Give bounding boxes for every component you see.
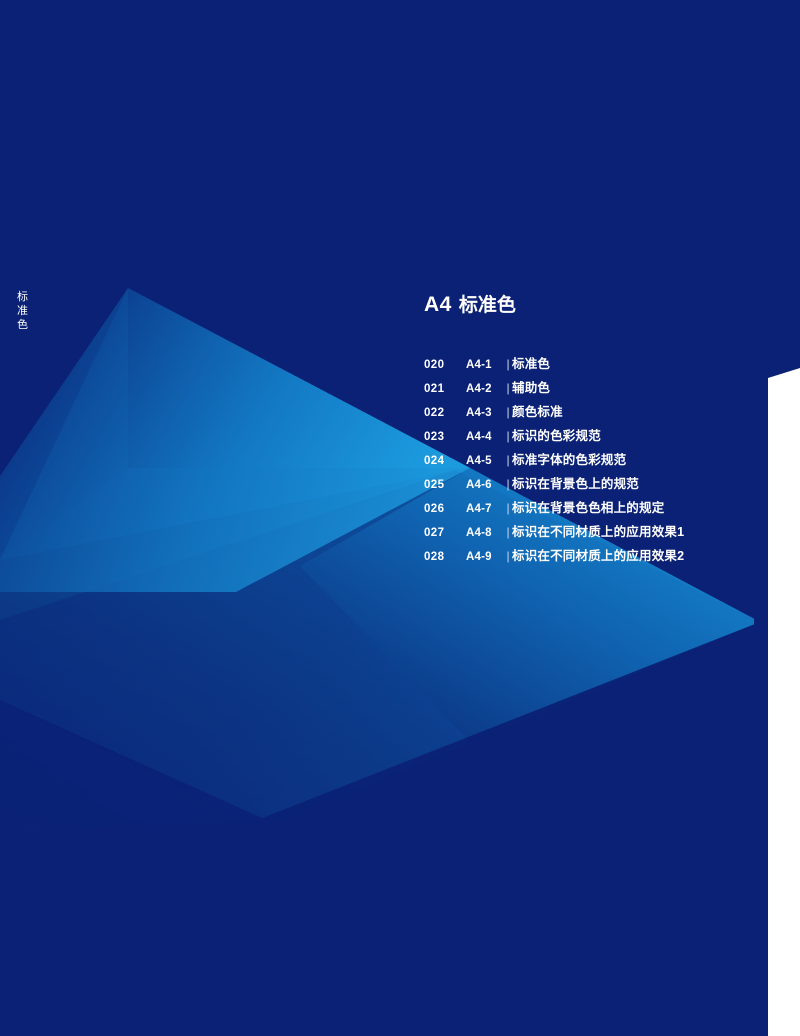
toc-entry-label: 标识在不同材质上的应用效果1 xyxy=(512,521,754,540)
toc-separator: | xyxy=(504,477,512,491)
toc-section-code: A4-5 xyxy=(466,455,504,467)
toc-item-4[interactable]: 024 A4-5 | 标准字体的色彩规范 xyxy=(424,449,754,473)
toc-item-7[interactable]: 027 A4-8 | 标识在不同材质上的应用效果1 xyxy=(424,521,754,545)
toc-item-3[interactable]: 023 A4-4 | 标识的色彩规范 xyxy=(424,425,754,449)
toc-page-number: 025 xyxy=(424,479,466,491)
toc-section-code: A4-3 xyxy=(466,407,504,419)
toc-section-code: A4-2 xyxy=(466,383,504,395)
toc-page-number: 020 xyxy=(424,359,466,371)
toc-entry-label: 标准色 xyxy=(512,353,754,372)
toc-entry-label: 标识在背景色上的规范 xyxy=(512,473,754,492)
toc-entry-label: 颜色标准 xyxy=(512,401,754,420)
toc-separator: | xyxy=(504,405,512,419)
toc-item-2[interactable]: 022 A4-3 | 颜色标准 xyxy=(424,401,754,425)
toc-separator: | xyxy=(504,525,512,539)
table-of-contents: 020 A4-1 | 标准色 021 A4-2 | 辅助色 022 A4-3 |… xyxy=(424,353,754,569)
toc-item-6[interactable]: 026 A4-7 | 标识在背景色色相上的规定 xyxy=(424,497,754,521)
chapter-content: A4标准色 020 A4-1 | 标准色 021 A4-2 | 辅助色 022 … xyxy=(424,292,754,569)
toc-section-code: A4-4 xyxy=(466,431,504,443)
toc-separator: | xyxy=(504,357,512,371)
toc-page-number: 027 xyxy=(424,527,466,539)
toc-page-number: 024 xyxy=(424,455,466,467)
toc-page-number: 022 xyxy=(424,407,466,419)
toc-separator: | xyxy=(504,381,512,395)
toc-section-code: A4-9 xyxy=(466,551,504,563)
page-title-text: 标准色 xyxy=(459,295,516,316)
toc-section-code: A4-8 xyxy=(466,527,504,539)
page-title-code: A4 xyxy=(424,293,452,316)
toc-page-number: 021 xyxy=(424,383,466,395)
toc-page-number: 026 xyxy=(424,503,466,515)
toc-entry-label: 辅助色 xyxy=(512,377,754,396)
toc-item-1[interactable]: 021 A4-2 | 辅助色 xyxy=(424,377,754,401)
toc-section-code: A4-6 xyxy=(466,479,504,491)
page-title: A4标准色 xyxy=(424,292,754,319)
toc-separator: | xyxy=(504,429,512,443)
toc-entry-label: 标识的色彩规范 xyxy=(512,425,754,444)
toc-item-5[interactable]: 025 A4-6 | 标识在背景色上的规范 xyxy=(424,473,754,497)
toc-section-code: A4-1 xyxy=(466,359,504,371)
side-tab-label: 标准色 xyxy=(16,290,30,332)
toc-page-number: 023 xyxy=(424,431,466,443)
toc-separator: | xyxy=(504,453,512,467)
toc-item-0[interactable]: 020 A4-1 | 标准色 xyxy=(424,353,754,377)
toc-entry-label: 标识在不同材质上的应用效果2 xyxy=(512,545,754,564)
toc-entry-label: 标识在背景色色相上的规定 xyxy=(512,497,754,516)
toc-item-8[interactable]: 028 A4-9 | 标识在不同材质上的应用效果2 xyxy=(424,545,754,569)
toc-separator: | xyxy=(504,501,512,515)
toc-page-number: 028 xyxy=(424,551,466,563)
toc-section-code: A4-7 xyxy=(466,503,504,515)
toc-separator: | xyxy=(504,549,512,563)
page-root: 标准色 A4标准色 020 A4-1 | 标准色 021 A4-2 | 辅助色 … xyxy=(0,0,800,1036)
toc-entry-label: 标准字体的色彩规范 xyxy=(512,449,754,468)
